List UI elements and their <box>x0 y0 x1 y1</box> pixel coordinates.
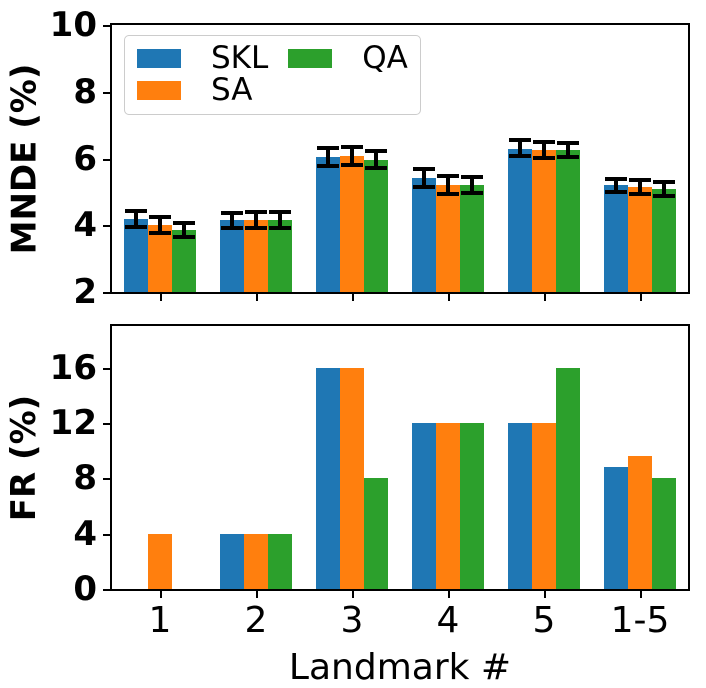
y-axis-tick <box>103 292 112 294</box>
error-bar-cap-top <box>125 209 147 213</box>
bar <box>652 478 676 589</box>
y-axis-tick <box>103 423 112 425</box>
error-bar-cap-bottom <box>437 192 459 196</box>
legend-label: SA <box>201 75 268 106</box>
error-bar-cap-bottom <box>605 190 627 194</box>
x-axis-tick-label: 5 <box>533 603 556 639</box>
bar <box>412 178 436 292</box>
bar <box>436 423 460 589</box>
legend-label: QA <box>352 43 408 74</box>
mnde-axes: MNDE (%) SKLSAQA 246810 <box>110 23 690 294</box>
error-bar <box>244 210 268 230</box>
bar <box>268 534 292 589</box>
x-axis-tick <box>160 589 162 598</box>
x-axis-tick <box>352 292 354 301</box>
error-bar-cap-bottom <box>557 155 579 159</box>
error-bar <box>652 180 676 198</box>
error-bar <box>148 215 172 235</box>
bar <box>604 467 628 589</box>
bar <box>556 368 580 589</box>
y-axis-tick-label: 0 <box>73 572 97 606</box>
error-bar-cap-bottom <box>149 231 171 235</box>
bar <box>172 230 196 292</box>
error-bar-cap-bottom <box>413 185 435 189</box>
x-axis-label: Landmark # <box>112 647 688 688</box>
mnde-y-axis-label: MNDE (%) <box>4 63 44 254</box>
bar <box>508 423 532 589</box>
bar <box>148 534 172 589</box>
x-axis-tick-label: 1 <box>149 603 172 639</box>
bar <box>460 185 484 292</box>
bar <box>652 189 676 292</box>
error-bar-cap-top <box>605 177 627 181</box>
y-axis-tick-label: 16 <box>50 351 97 385</box>
bar <box>436 185 460 292</box>
x-axis-tick <box>256 589 258 598</box>
fr-y-axis-label: FR (%) <box>4 394 44 520</box>
bar <box>148 225 172 292</box>
x-axis-tick-label: 2 <box>245 603 268 639</box>
y-axis-tick <box>103 25 112 27</box>
x-axis-tick-label: 3 <box>341 603 364 639</box>
y-axis-tick <box>103 92 112 94</box>
error-bar-cap-bottom <box>629 192 651 196</box>
error-bar-cap-top <box>173 221 195 225</box>
y-axis-tick <box>103 589 112 591</box>
bar <box>628 456 652 589</box>
error-bar <box>340 145 364 167</box>
error-bar-cap-bottom <box>653 194 675 198</box>
error-bar-cap-top <box>653 180 675 184</box>
x-axis-tick-label: 1-5 <box>611 603 670 639</box>
bar <box>556 150 580 292</box>
bar <box>460 423 484 589</box>
bar <box>340 156 364 292</box>
x-axis-tick <box>448 589 450 598</box>
bar <box>268 220 292 292</box>
error-bar-cap-top <box>317 146 339 150</box>
x-axis-tick <box>256 292 258 301</box>
bar <box>628 187 652 292</box>
error-bar-cap-top <box>629 178 651 182</box>
x-axis-tick <box>352 589 354 598</box>
legend-label: SKL <box>201 43 268 74</box>
error-bar <box>268 210 292 230</box>
x-axis-tick <box>160 292 162 301</box>
bar <box>412 423 436 589</box>
error-bar-cap-top <box>413 167 435 171</box>
error-bar <box>508 138 532 158</box>
y-axis-tick-label: 4 <box>73 208 97 242</box>
y-axis-tick-label: 4 <box>73 517 97 551</box>
error-bar-cap-top <box>533 140 555 144</box>
y-axis-tick <box>103 368 112 370</box>
bar <box>532 423 556 589</box>
error-bar <box>628 178 652 197</box>
y-axis-tick <box>103 159 112 161</box>
error-bar <box>556 141 580 160</box>
error-bar-cap-bottom <box>365 166 387 170</box>
y-axis-tick <box>103 534 112 536</box>
error-bar <box>436 174 460 196</box>
x-axis-tick-label: 4 <box>437 603 460 639</box>
y-axis-tick-label: 10 <box>50 8 97 42</box>
legend-swatch <box>137 81 181 100</box>
error-bar-cap-top <box>245 210 267 214</box>
error-bar-cap-bottom <box>341 163 363 167</box>
error-bar-cap-bottom <box>173 235 195 239</box>
x-axis-tick <box>640 589 642 598</box>
legend-swatch <box>288 49 332 68</box>
x-axis-tick <box>544 589 546 598</box>
error-bar-cap-bottom <box>221 226 243 230</box>
error-bar-cap-top <box>461 175 483 179</box>
figure: MNDE (%) SKLSAQA 246810 FR (%) Landmark … <box>0 0 706 685</box>
y-axis-tick <box>103 478 112 480</box>
error-bar-cap-top <box>365 149 387 153</box>
x-axis-tick <box>640 292 642 301</box>
error-bar-cap-bottom <box>317 164 339 168</box>
error-bar-cap-bottom <box>245 226 267 230</box>
y-axis-tick-label: 8 <box>73 461 97 495</box>
bar <box>316 157 340 292</box>
bar <box>604 185 628 292</box>
bar <box>340 368 364 589</box>
error-bar-cap-bottom <box>125 225 147 229</box>
error-bar-cap-top <box>557 141 579 145</box>
error-bar <box>172 221 196 239</box>
error-bar-cap-bottom <box>269 226 291 230</box>
bar <box>244 220 268 292</box>
y-axis-tick-label: 2 <box>73 275 97 309</box>
y-axis-tick-label: 6 <box>73 142 97 176</box>
error-bar <box>532 140 556 160</box>
error-bar <box>460 175 484 195</box>
error-bar <box>316 146 340 167</box>
bar <box>220 534 244 589</box>
error-bar-cap-top <box>221 211 243 215</box>
bar <box>244 534 268 589</box>
error-bar-cap-top <box>341 145 363 149</box>
error-bar <box>364 149 388 169</box>
error-bar-cap-top <box>269 210 291 214</box>
error-bar-cap-bottom <box>509 154 531 158</box>
x-axis-tick <box>448 292 450 301</box>
fr-axes: FR (%) Landmark # 0481216123451-5 <box>110 324 690 591</box>
bar <box>124 219 148 292</box>
x-axis-tick <box>544 292 546 301</box>
bar <box>316 368 340 589</box>
y-axis-tick <box>103 225 112 227</box>
error-bar <box>220 211 244 230</box>
bar <box>508 149 532 293</box>
legend-swatch <box>137 49 181 68</box>
error-bar <box>124 209 148 229</box>
bar <box>364 160 388 292</box>
chart-legend: SKLSAQA <box>124 35 421 115</box>
error-bar-cap-top <box>509 138 531 142</box>
error-bar-cap-bottom <box>533 156 555 160</box>
error-bar-cap-top <box>149 215 171 219</box>
error-bar <box>412 167 436 188</box>
error-bar <box>604 177 628 194</box>
y-axis-tick-label: 8 <box>73 75 97 109</box>
bar <box>532 150 556 292</box>
error-bar-cap-top <box>437 174 459 178</box>
bar <box>220 220 244 292</box>
y-axis-tick-label: 12 <box>50 406 97 440</box>
bar <box>364 478 388 589</box>
fr-plot-area <box>112 326 688 589</box>
error-bar-cap-bottom <box>461 191 483 195</box>
